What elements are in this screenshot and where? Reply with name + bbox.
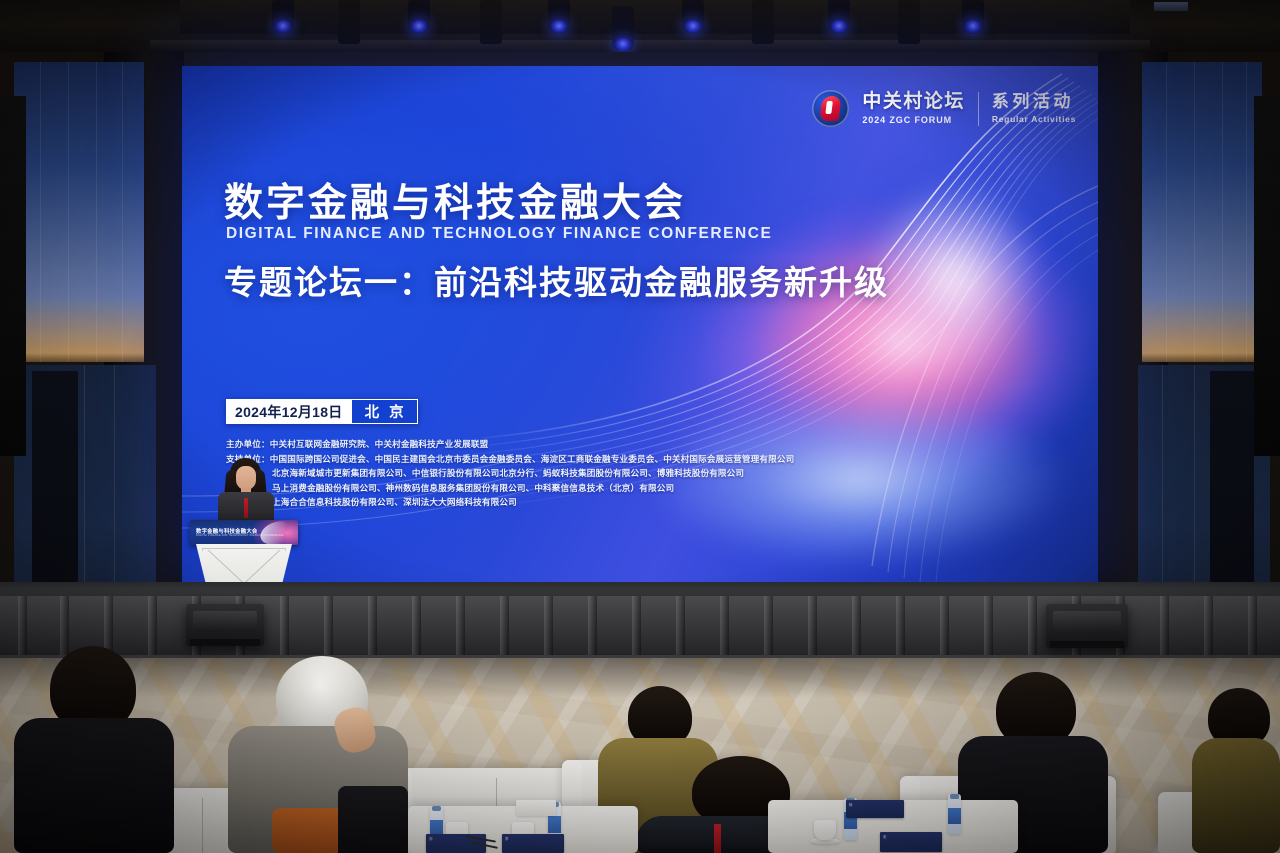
water-bottle (948, 794, 961, 834)
ceiling-vent (1154, 2, 1188, 11)
wall-panel-upper-right (1142, 62, 1262, 362)
audience-member (228, 656, 408, 853)
stage-light-icon (682, 0, 704, 34)
logo-divider (978, 92, 979, 126)
organizer-line: 上海合合信息科技股份有限公司、深圳法大大网络科技有限公司 (226, 495, 926, 510)
ceiling-beam (150, 40, 1150, 50)
zgc-forum-logo: 中关村论坛 2024 ZGC FORUM 系列活动 Regular Activi… (812, 90, 1076, 127)
zgc-name-cn: 中关村论坛 (862, 92, 965, 113)
led-stage-screen: 中关村论坛 2024 ZGC FORUM 系列活动 Regular Activi… (182, 66, 1098, 582)
name-card-text: 刘 (429, 836, 433, 841)
stage-monitor-left (186, 604, 264, 646)
speaker-lanyard (244, 498, 248, 518)
event-city: 北 京 (352, 399, 418, 424)
conference-hall-photo: 中关村论坛 2024 ZGC FORUM 系列活动 Regular Activi… (0, 0, 1280, 853)
name-card-text: 杨 (849, 802, 853, 807)
stage-light-icon (272, 0, 294, 34)
series-cn: 系列活动 (992, 93, 1076, 112)
table-name-card: 李 (502, 834, 564, 853)
audience-member-lanyard (714, 824, 721, 853)
lighting-truss (180, 0, 1130, 34)
stage-light-icon (338, 0, 360, 44)
tea-cup (814, 820, 836, 840)
zgc-logo-text: 中关村论坛 2024 ZGC FORUM (862, 92, 965, 125)
zgc-name-en: 2024 ZGC FORUM (862, 115, 965, 125)
organizer-line: 主办单位：中关村互联网金融研究院、中关村金融科技产业发展联盟 (226, 437, 926, 452)
stage-light-icon (480, 0, 502, 44)
event-date: 2024年12月18日 (226, 399, 352, 424)
name-card-text: 张 (883, 834, 887, 839)
podium-banner-en: DIGITAL FINANCE AND TECHNOLOGY FINANCE C… (196, 534, 284, 537)
organizer-line: 马上消费金融股份有限公司、神州数码信息服务集团股份有限公司、中科聚信信息技术（北… (226, 481, 926, 496)
table-paper (516, 800, 556, 816)
stage-light-icon (408, 0, 430, 34)
zgc-emblem-icon (812, 90, 849, 127)
podium-banner: 数字金融与科技金融大会 DIGITAL FINANCE AND TECHNOLO… (190, 520, 298, 545)
speaker-figure (214, 458, 278, 524)
stage-light-icon (612, 6, 634, 52)
series-text: 系列活动 Regular Activities (992, 93, 1076, 125)
organizer-line: 支持单位：中国国际跨国公司促进会、中国民主建国会北京市委员会金融委员会、海淀区工… (226, 452, 926, 467)
forum-subtitle-cn: 专题论坛一：前沿科技驱动金融服务新升级 (224, 256, 889, 304)
stage-light-icon (752, 0, 774, 44)
stage-light-icon (962, 0, 984, 34)
series-en: Regular Activities (992, 114, 1076, 124)
date-city-badge: 2024年12月18日 北 京 (226, 399, 418, 424)
table-name-card: 张 (880, 832, 942, 852)
stage-monitor-right (1046, 604, 1128, 648)
line-array-speaker-left (0, 96, 26, 456)
line-array-speaker-right (1254, 96, 1280, 456)
stage-light-icon (828, 0, 850, 34)
audience-member (1192, 688, 1280, 853)
table-name-card: 杨 (846, 800, 904, 818)
name-card-text: 李 (505, 836, 509, 841)
audience-member-coat (338, 786, 408, 853)
conference-title-en: DIGITAL FINANCE AND TECHNOLOGY FINANCE C… (226, 225, 772, 243)
stage-light-icon (898, 0, 920, 44)
organizer-line: 北京海新域城市更新集团有限公司、中信银行股份有限公司北京分行、蚂蚁科技集团股份有… (226, 466, 926, 481)
conference-title-cn: 数字金融与科技金融大会 (224, 172, 686, 228)
audience-member (14, 646, 174, 853)
organizer-list: 主办单位：中关村互联网金融研究院、中关村金融科技产业发展联盟 支持单位：中国国际… (226, 437, 926, 510)
stage-light-icon (548, 0, 570, 34)
wall-panel-upper-left (14, 62, 144, 362)
